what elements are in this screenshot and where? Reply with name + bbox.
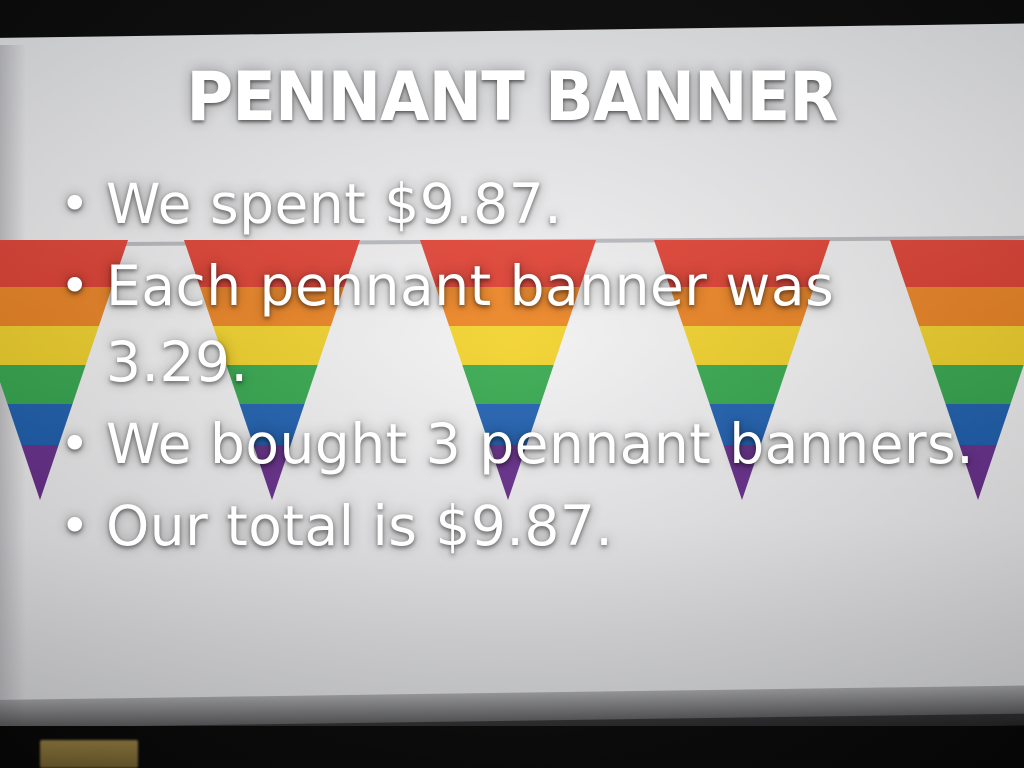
slide-title: Pennant Banner bbox=[31, 62, 994, 134]
bullet-text: Our total is $9.87. bbox=[106, 488, 982, 564]
bullet-item: • Our total is $9.87. bbox=[52, 488, 982, 564]
bullet-marker-icon: • bbox=[52, 248, 106, 324]
bullet-item: • Each pennant banner was 3.29. bbox=[52, 248, 982, 400]
bullet-text: We bought 3 pennant banners. bbox=[106, 406, 982, 482]
bullet-item: • We bought 3 pennant banners. bbox=[52, 406, 982, 482]
slide: Pennant Banner • We spent $9.87. • Each … bbox=[0, 0, 1024, 768]
bullet-text: Each pennant banner was 3.29. bbox=[106, 248, 982, 400]
bullet-item: • We spent $9.87. bbox=[52, 166, 982, 242]
bullet-marker-icon: • bbox=[52, 488, 106, 564]
bullet-list: • We spent $9.87. • Each pennant banner … bbox=[52, 166, 982, 570]
bullet-marker-icon: • bbox=[52, 166, 106, 242]
bullet-marker-icon: • bbox=[52, 406, 106, 482]
bullet-text: We spent $9.87. bbox=[106, 166, 982, 242]
slide-text-layer: Pennant Banner • We spent $9.87. • Each … bbox=[0, 0, 1024, 768]
